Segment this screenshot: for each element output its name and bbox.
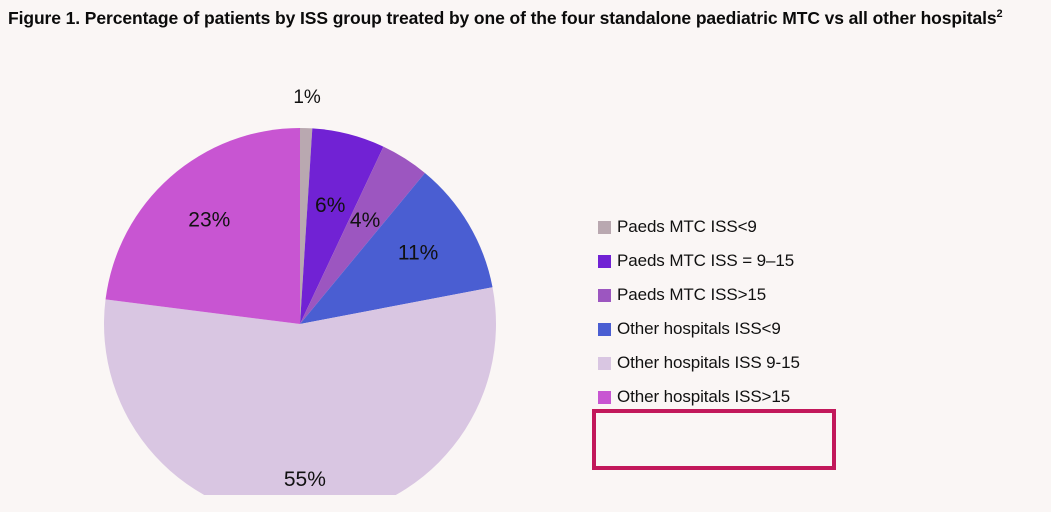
pie-slice-group (104, 128, 496, 495)
legend-swatch-icon (598, 221, 611, 234)
legend-item-label: Other hospitals ISS 9-15 (617, 353, 800, 373)
legend-swatch-icon (598, 391, 611, 404)
pie-slice-label: 4% (350, 209, 380, 232)
chart-area: 1%6%4%11%55%23% Paeds MTC ISS<9Paeds MTC… (0, 60, 1051, 512)
legend-item[interactable]: Paeds MTC ISS<9 (592, 210, 852, 244)
legend-item[interactable]: Other hospitals ISS 9-15 (592, 346, 852, 380)
legend-item[interactable]: Paeds MTC ISS = 9–15 (592, 244, 852, 278)
pie-slice-label: 1% (293, 87, 321, 108)
pie-slice-label: 11% (398, 242, 438, 265)
pie-chart: 1%6%4%11%55%23% (60, 75, 540, 495)
pie-slice-label: 55% (284, 468, 326, 491)
legend-item-label: Other hospitals ISS<9 (617, 319, 781, 339)
legend-swatch-icon (598, 323, 611, 336)
legend-item[interactable]: Other hospitals ISS<9 (592, 312, 852, 346)
legend-highlight-box (592, 409, 836, 470)
legend-item-label: Paeds MTC ISS>15 (617, 285, 766, 305)
pie-slice-label: 23% (188, 209, 230, 232)
page-title: Figure 1. Percentage of patients by ISS … (8, 6, 1043, 31)
legend-item[interactable]: Paeds MTC ISS>15 (592, 278, 852, 312)
figure-title-superscript: 2 (997, 8, 1003, 20)
pie-slice-label: 6% (315, 194, 345, 217)
figure-title-text: Figure 1. Percentage of patients by ISS … (8, 8, 997, 28)
legend-swatch-icon (598, 289, 611, 302)
legend: Paeds MTC ISS<9Paeds MTC ISS = 9–15Paeds… (592, 210, 852, 414)
legend-item-label: Other hospitals ISS>15 (617, 387, 790, 407)
legend-item-label: Paeds MTC ISS<9 (617, 217, 757, 237)
legend-item[interactable]: Other hospitals ISS>15 (592, 380, 852, 414)
legend-swatch-icon (598, 255, 611, 268)
legend-swatch-icon (598, 357, 611, 370)
legend-item-label: Paeds MTC ISS = 9–15 (617, 251, 794, 271)
